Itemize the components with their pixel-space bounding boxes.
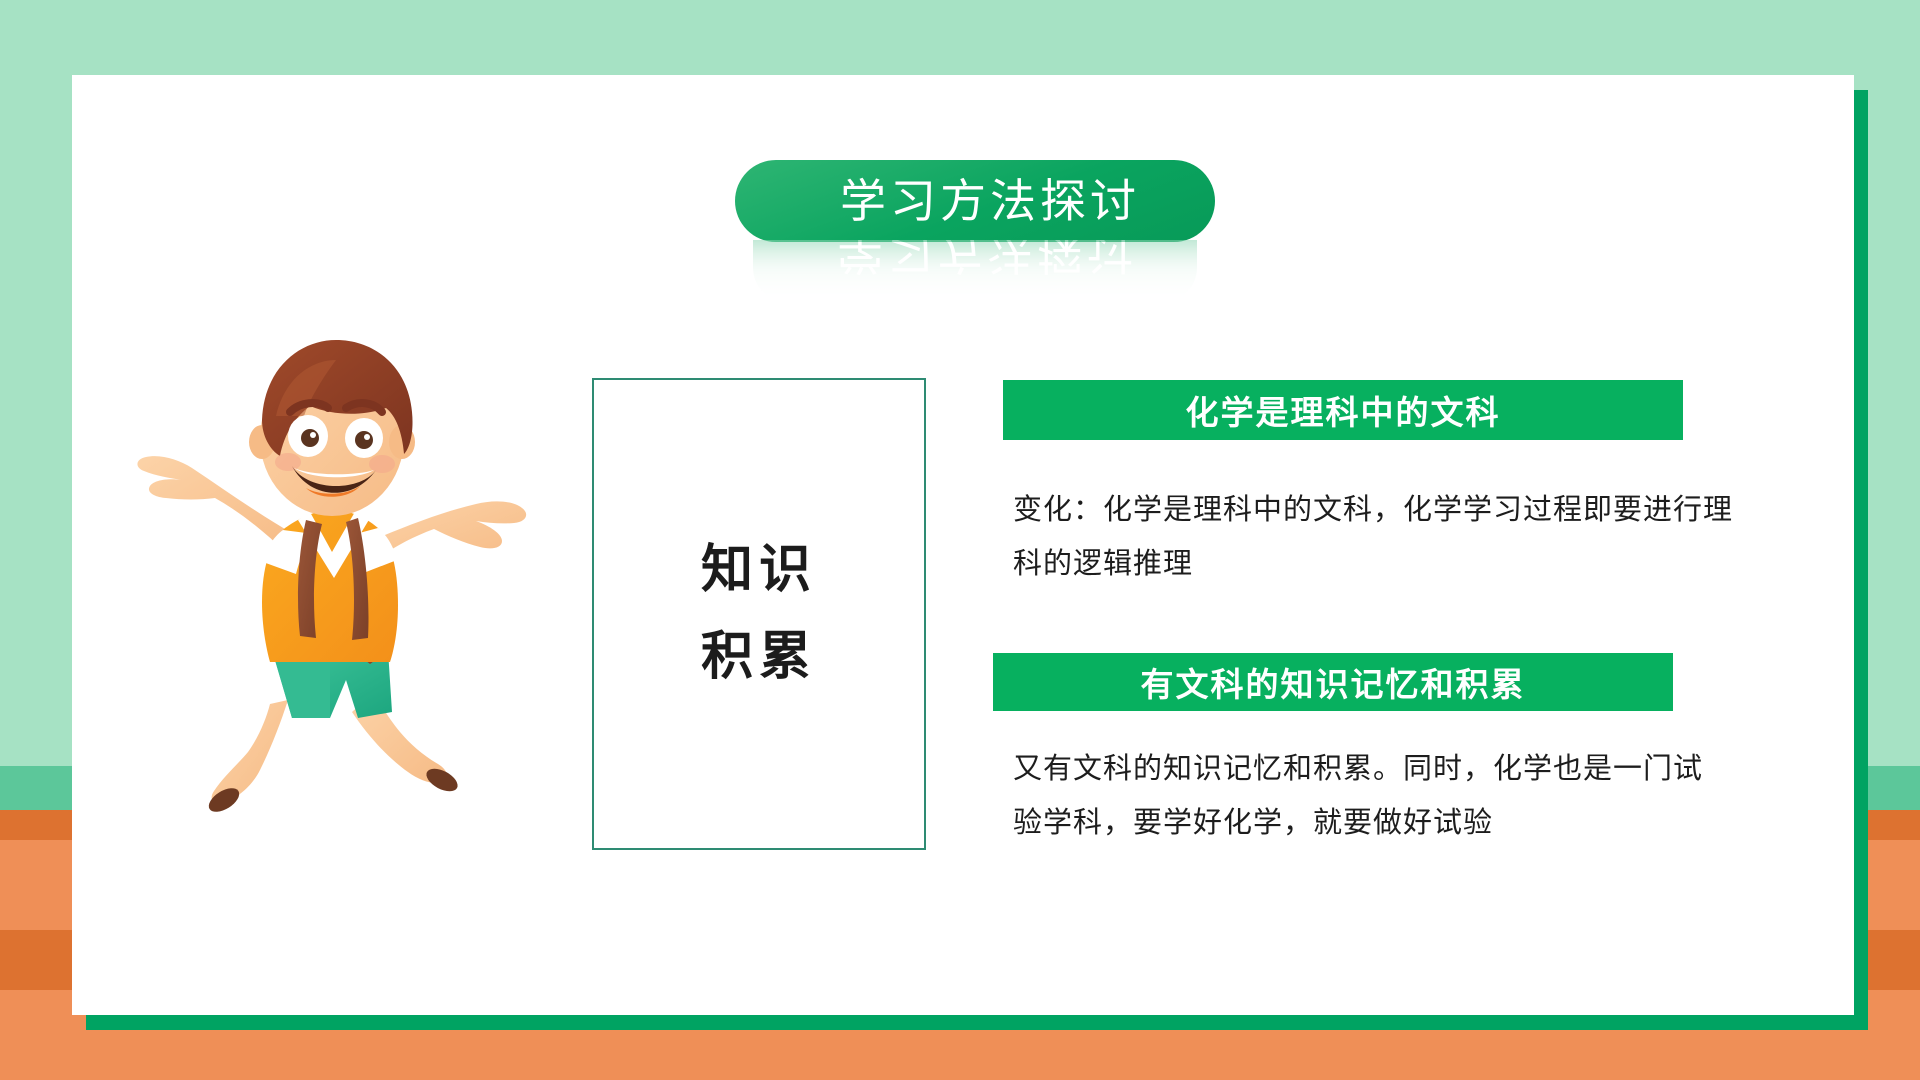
content-heading-bar-2: 有文科的知识记忆和积累 bbox=[993, 653, 1673, 711]
slide-title-text: 学习方法探讨 bbox=[840, 178, 1140, 224]
content-heading-text-2: 有文科的知识记忆和积累 bbox=[1141, 658, 1526, 706]
slide-title-reflection: 学习方法探讨 bbox=[753, 240, 1197, 302]
knowledge-box-line-1: 知识 bbox=[701, 543, 817, 598]
content-body-text-1: 变化：化学是理科中的文科，化学学习过程即要进行理科的逻辑推理 bbox=[1013, 483, 1743, 590]
content-body-text-2: 又有文科的知识记忆和积累。同时，化学也是一门试验学科，要学好化学，就要做好试验 bbox=[1013, 742, 1713, 849]
content-heading-bar-1: 化学是理科中的文科 bbox=[1003, 380, 1683, 440]
knowledge-box-line-2: 积累 bbox=[701, 630, 817, 685]
knowledge-box: 知识 积累 bbox=[592, 378, 926, 850]
slide-title-group: 学习方法探讨 学习方法探讨 bbox=[735, 160, 1215, 300]
slide-title-pill: 学习方法探讨 bbox=[735, 160, 1215, 242]
slide-canvas: 学习方法探讨 学习方法探讨 bbox=[0, 0, 1920, 1080]
slide-title-reflection-text: 学习方法探讨 bbox=[753, 240, 1197, 288]
content-heading-text-1: 化学是理科中的文科 bbox=[1186, 386, 1501, 434]
jumping-schoolboy-illustration bbox=[120, 320, 540, 820]
